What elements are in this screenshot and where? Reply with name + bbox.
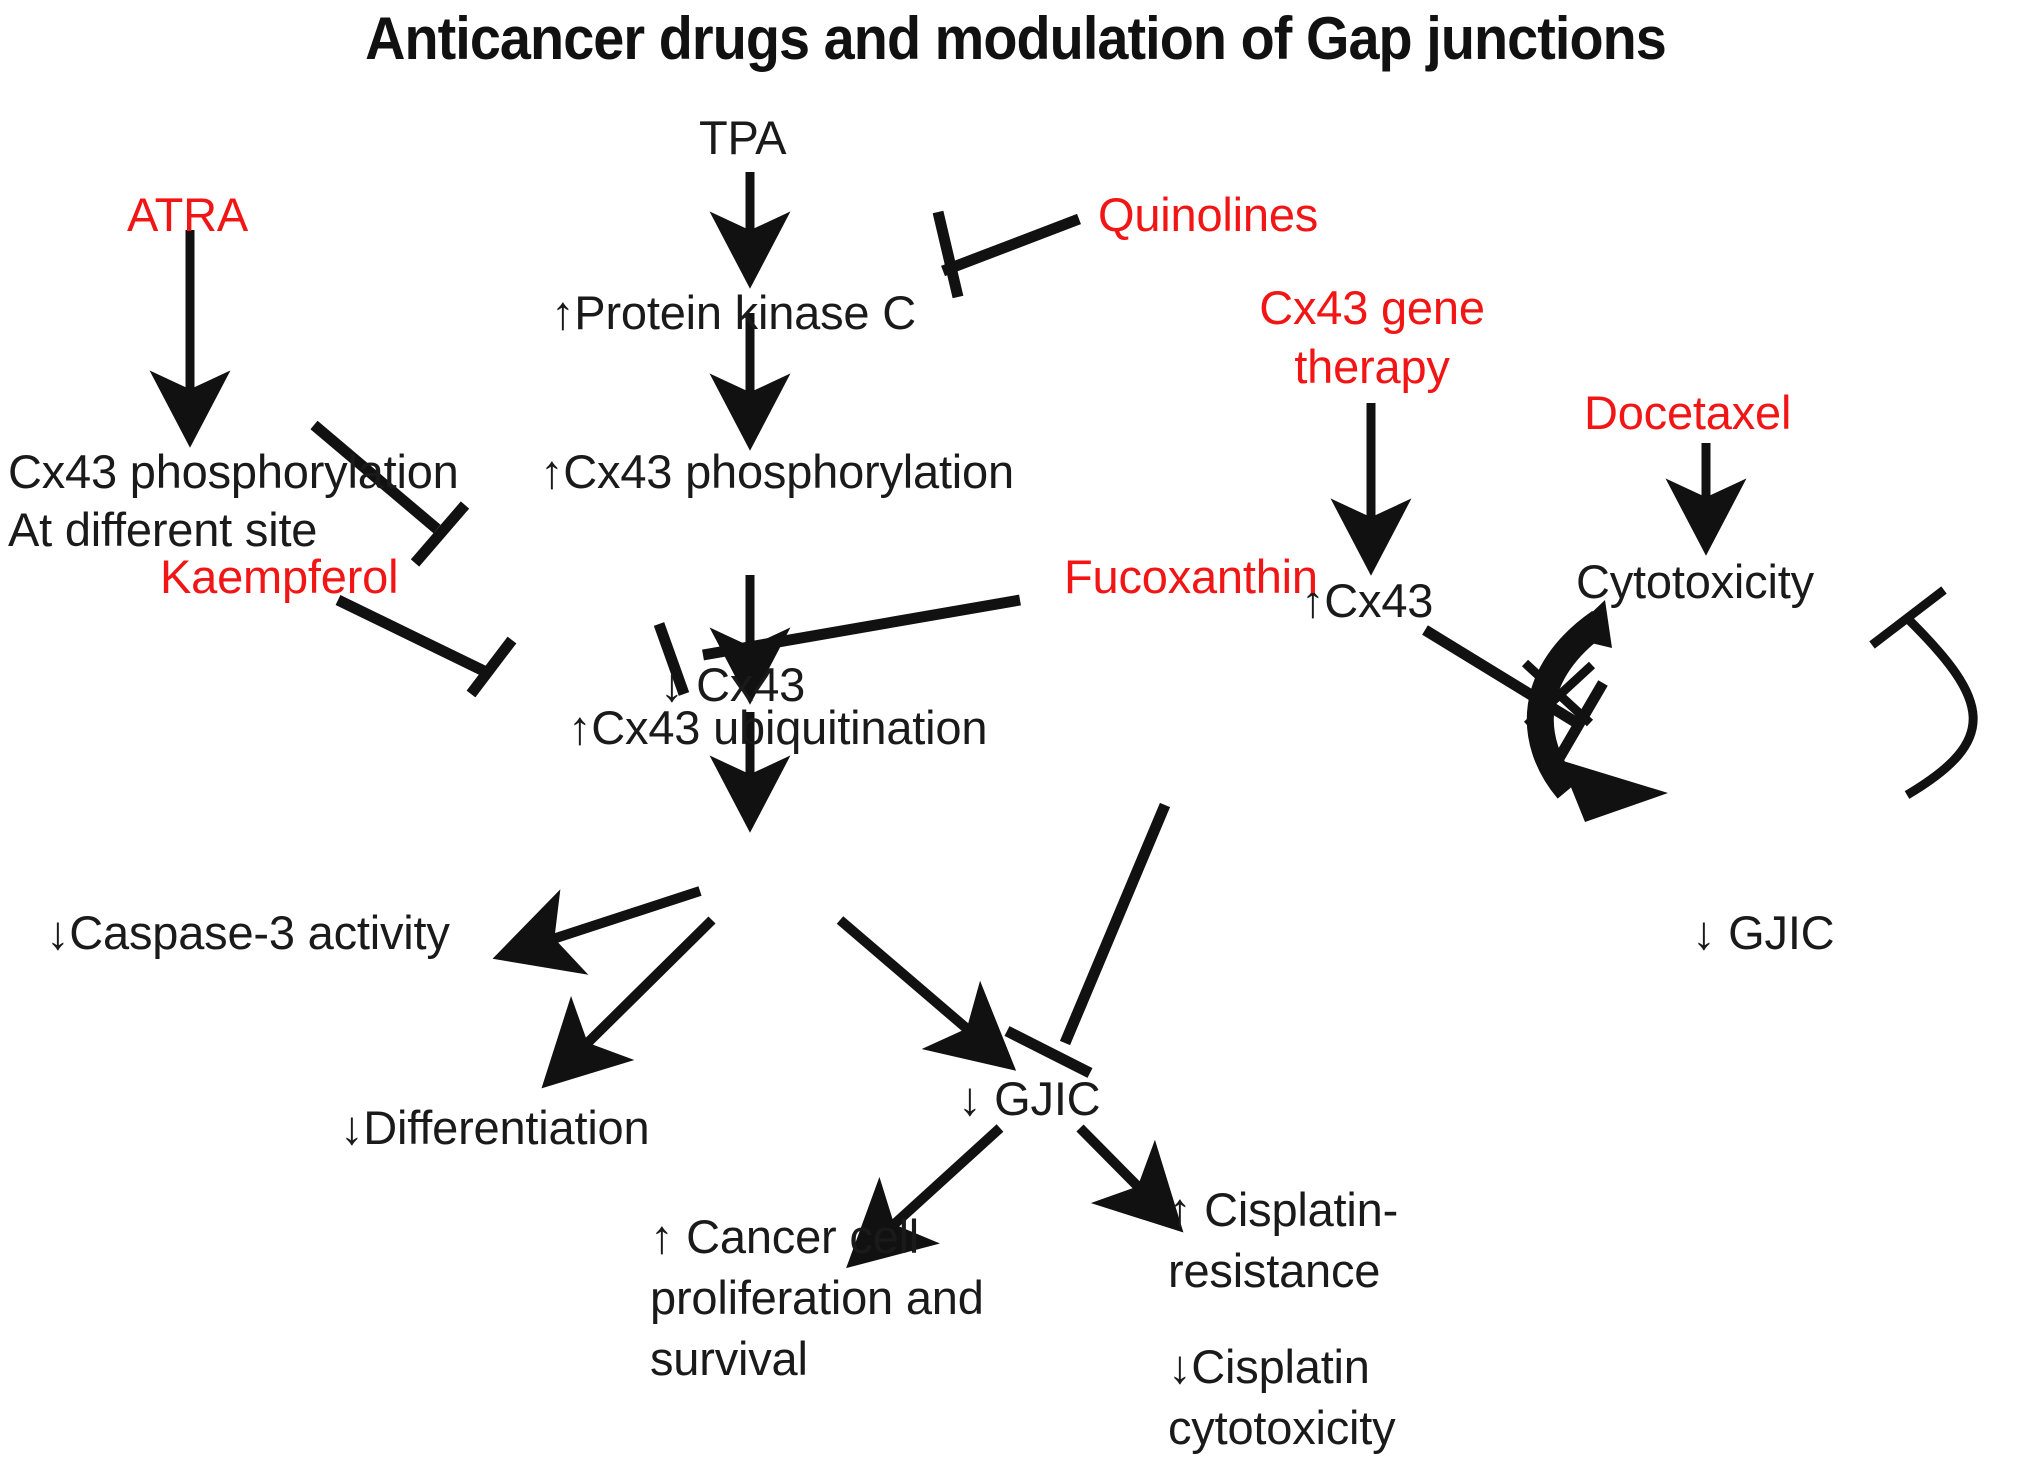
- edge-kaempferol-inhibits-cx43: [338, 600, 486, 672]
- node-cx43-gene-therapy-line1: Cx43 gene: [1237, 278, 1507, 337]
- node-cx43-gene-therapy-line2: therapy: [1237, 337, 1507, 396]
- node-fucoxanthin: Fucoxanthin: [1064, 547, 1318, 606]
- node-cx43-up-right: ↑Cx43: [1301, 571, 1433, 630]
- node-atra: ATRA: [127, 185, 248, 244]
- node-gjic-down-center: ↓ GJIC: [958, 1069, 1100, 1128]
- node-gjic-down-right: ↓ GJIC: [1692, 903, 1834, 962]
- node-cisplatin-cytotoxicity-line2: cytotoxicity: [1168, 1398, 1395, 1457]
- pathway-diagram: Anticancer drugs and modulation of Gap j…: [0, 0, 2031, 1481]
- edge-fucoxanthin-inhibits-gjic: [1065, 805, 1165, 1043]
- node-cx43-down: ↓ Cx43: [660, 655, 805, 714]
- node-cancer-cell-line1: ↑ Cancer cell: [650, 1207, 919, 1266]
- edge-gjic-to-cisplatin-resistance: [1080, 1128, 1175, 1224]
- node-cytotoxicity: Cytotoxicity: [1576, 552, 1814, 611]
- node-cancer-cell-line2: proliferation and: [650, 1268, 984, 1327]
- node-tpa: TPA: [699, 108, 786, 167]
- node-cx43-phosphorylation-up: ↑Cx43 phosphorylation: [540, 442, 1014, 501]
- edge-quinolines-inhibits-pkc: [943, 219, 1079, 271]
- node-docetaxel: Docetaxel: [1584, 383, 1791, 442]
- edge-cx43-to-gjic: [840, 920, 1007, 1063]
- node-cisplatin-resistance-line1: ↑ Cisplatin-: [1168, 1180, 1398, 1239]
- node-protein-kinase-c: ↑Protein kinase C: [551, 283, 916, 342]
- node-cx43-phosphorylation-left-line1: Cx43 phosphorylation: [8, 442, 459, 501]
- edge-gjic-inhibits-cytotoxicity-curve: [1872, 590, 1973, 795]
- node-cancer-cell-line3: survival: [650, 1329, 808, 1388]
- node-kaempferol: Kaempferol: [160, 547, 398, 606]
- node-cisplatin-resistance-line2: resistance: [1168, 1241, 1380, 1300]
- node-cisplatin-cytotoxicity-line1: ↓Cisplatin: [1168, 1337, 1370, 1396]
- edge-cx43-to-differentiation: [550, 920, 712, 1080]
- inhibit-bar-pkc: [938, 212, 958, 297]
- node-differentiation: ↓Differentiation: [340, 1098, 649, 1157]
- edge-cx43-to-caspase3: [504, 891, 700, 955]
- node-quinolines: Quinolines: [1098, 185, 1318, 244]
- inhibit-bar-fucox-gjic: [1007, 1031, 1090, 1073]
- edge-layer: [0, 0, 2031, 1481]
- node-caspase3: ↓Caspase-3 activity: [46, 903, 450, 962]
